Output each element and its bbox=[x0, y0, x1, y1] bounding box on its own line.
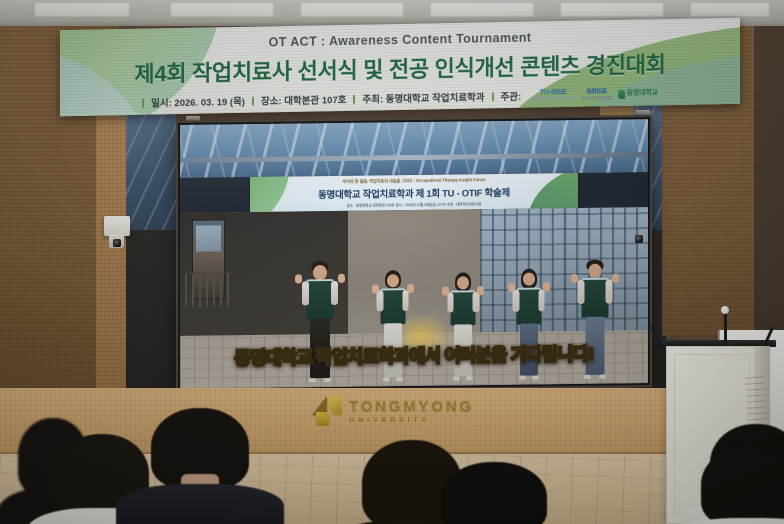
banner-title: 제4회 작업치료사 선서식 및 전공 인식개선 콘텐츠 경진대회 bbox=[134, 47, 665, 89]
ceiling-light bbox=[34, 2, 130, 17]
ceiling-light bbox=[690, 2, 770, 17]
wall-camera-left-icon bbox=[104, 216, 130, 236]
banner-meta-organizer: 주관: bbox=[501, 89, 522, 103]
audience-member bbox=[140, 408, 260, 524]
sponsor-name: 동명대학교 bbox=[627, 90, 658, 98]
banner-meta-row: 일시: 2026. 03. 19 (목) 장소: 대학본관 107호 주최: 동… bbox=[142, 86, 658, 109]
auditorium-photo: OT ACT : Awareness Content Tournament 제4… bbox=[0, 0, 784, 524]
meta-separator-icon bbox=[142, 98, 144, 107]
audience-member bbox=[690, 446, 784, 524]
meta-separator-icon bbox=[492, 92, 494, 101]
banner-meta-place: 장소: 대학본관 107호 bbox=[261, 92, 346, 108]
video-window-bank bbox=[480, 208, 648, 336]
video-banner-title: 동명대학교 작업치료학과 제 1회 TU - OTIF 학술제 bbox=[318, 185, 510, 201]
sponsor-logo-turise: TU-RISE 동명대학교 대학혁신지원사업 bbox=[530, 89, 576, 101]
sponsor-logo-dongmyong: 동명대학교 bbox=[618, 89, 658, 99]
sponsor-logos: TU-RISE 동명대학교 대학혁신지원사업 BRISE 부산지역혁신플랫폼 동… bbox=[530, 88, 658, 102]
projection-screen: 우리의 첫 걸음, 작업치료의 내일을 그리다 : Occupational T… bbox=[176, 115, 652, 393]
video-door-glass bbox=[196, 225, 221, 252]
video-banner-wave-left bbox=[250, 173, 290, 213]
university-logo: TONGMYONG UNIVERSITY bbox=[312, 396, 474, 426]
wall-panel-right-dark bbox=[754, 26, 784, 336]
camera-lens-icon bbox=[635, 235, 643, 243]
video-banner-wave-right bbox=[526, 173, 578, 213]
meta-separator-icon bbox=[252, 96, 254, 105]
ceiling-light bbox=[300, 2, 404, 17]
event-banner: OT ACT : Awareness Content Tournament 제4… bbox=[60, 18, 740, 116]
video-railing bbox=[185, 272, 232, 306]
video-inner-banner: 우리의 첫 걸음, 작업치료의 내일을 그리다 : Occupational T… bbox=[250, 173, 578, 213]
microphone-head-icon bbox=[721, 306, 729, 314]
lectern-notes bbox=[744, 373, 767, 420]
ceiling-light bbox=[560, 2, 664, 17]
university-subtitle: UNIVERSITY bbox=[349, 416, 474, 424]
meta-separator-icon bbox=[353, 94, 355, 103]
video-banner-footer: 장소 : 동명대학교 대학본관 126호 일시 : 2026년 11월 28일(… bbox=[347, 202, 481, 209]
sponsor-sub: 부산지역혁신플랫폼 bbox=[581, 96, 612, 101]
banner-subtitle: OT ACT : Awareness Content Tournament bbox=[269, 31, 532, 50]
banner-meta-date: 일시: 2026. 03. 19 (목) bbox=[151, 94, 245, 110]
projected-video: 우리의 첫 걸음, 작업치료의 내일을 그리다 : Occupational T… bbox=[180, 119, 648, 389]
microphone-center-icon bbox=[724, 312, 727, 342]
alcove-glass bbox=[118, 96, 176, 230]
video-banner-subtitle: 우리의 첫 걸음, 작업치료의 내일을 그리다 : Occupational T… bbox=[342, 177, 485, 185]
camera-lens-icon bbox=[113, 239, 121, 247]
video-glass-canopy bbox=[180, 119, 648, 178]
banner-meta-host: 주최: 동명대학교 작업치료학과 bbox=[362, 89, 484, 105]
sponsor-sub: 동명대학교 대학혁신지원사업 bbox=[530, 96, 576, 101]
dongmyong-mark-icon bbox=[618, 89, 625, 98]
ceiling-light bbox=[170, 2, 274, 17]
tongmyong-mark-icon bbox=[312, 396, 342, 426]
window-alcove-left bbox=[118, 96, 176, 388]
sponsor-logo-brise: BRISE 부산지역혁신플랫폼 bbox=[581, 88, 612, 100]
audience-member bbox=[432, 462, 556, 524]
university-name: TONGMYONG bbox=[349, 399, 474, 414]
ceiling-light bbox=[430, 2, 534, 17]
